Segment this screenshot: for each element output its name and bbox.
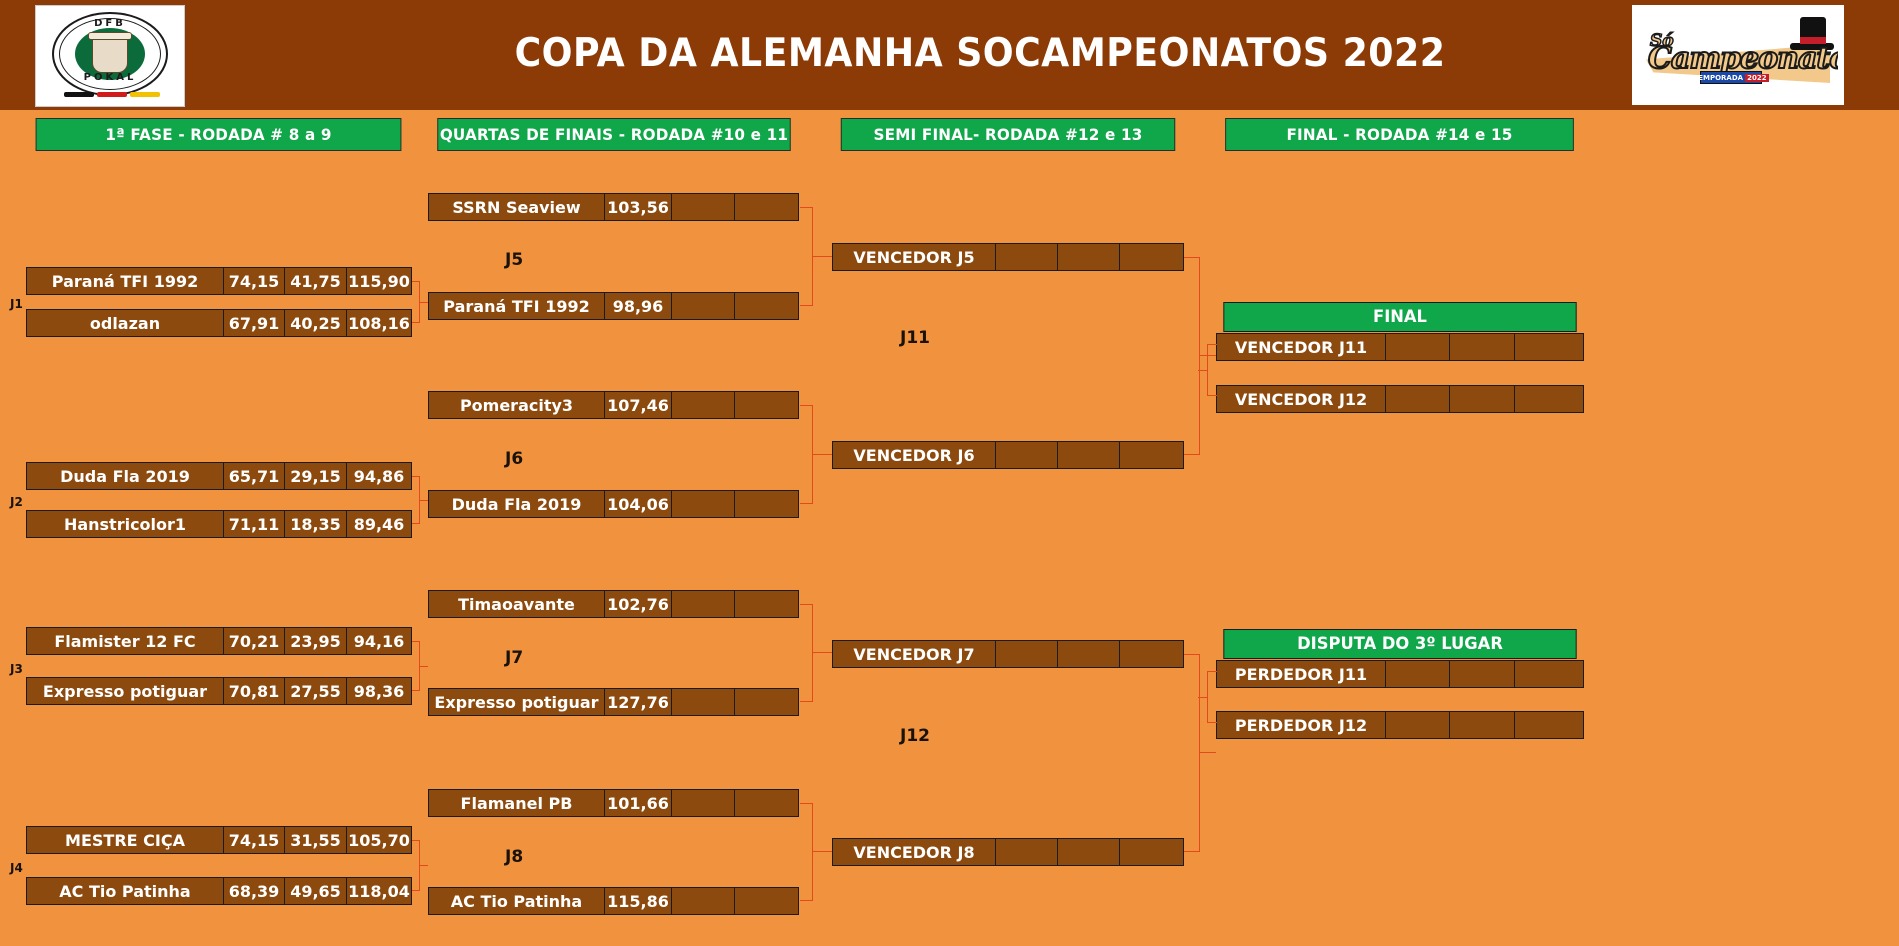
bracket-connector [813,851,833,852]
empty-cell [735,790,798,816]
bracket-connector [412,840,420,891]
flag-stripe-gold-icon [130,92,160,97]
empty-cell [1386,661,1450,687]
empty-cell [1058,839,1120,865]
score-total: 94,16 [347,628,411,654]
match-slot[interactable]: VENCEDOR J5 [832,243,1184,271]
score-total: 98,96 [605,293,672,319]
dfb-pokal-emblem: DFB POKAL [46,10,174,102]
match-id-j7: J7 [505,648,523,668]
match-slot[interactable]: VENCEDOR J8 [832,838,1184,866]
score-leg1: 65,71 [224,463,285,489]
score-total: 115,86 [605,888,672,914]
flag-stripe-black-icon [64,92,94,97]
team-name: VENCEDOR J8 [833,839,996,865]
team-name: Paraná TFI 1992 [27,268,224,294]
page-title: COPA DA ALEMANHA SOCAMPEONATOS 2022 [422,22,1538,84]
score-total: 118,04 [347,878,411,904]
empty-cell [1450,386,1515,412]
season-badge-label: TEMPORADA [1693,74,1743,82]
round-header-quarters[interactable]: QUARTAS DE FINAIS - RODADA #10 e 11 [437,118,790,151]
bracket-connector [813,256,833,257]
empty-cell [1386,386,1450,412]
empty-cell [735,689,798,715]
team-name: Expresso potiguar [429,689,605,715]
match-id-j12: J12 [900,726,930,746]
match-slot[interactable]: VENCEDOR J12 [1216,385,1584,413]
empty-cell [672,491,735,517]
score-leg2: 18,35 [285,511,347,537]
score-leg1: 70,21 [224,628,285,654]
team-name: VENCEDOR J6 [833,442,996,468]
match-slot[interactable]: Hanstricolor1 71,11 18,35 89,46 [26,510,412,538]
score-total: 98,36 [347,678,411,704]
score-leg1: 71,11 [224,511,285,537]
bracket-connector [1200,752,1216,753]
score-leg2: 23,95 [285,628,347,654]
team-name: odlazan [27,310,224,336]
bracket-connector [1184,654,1200,852]
empty-cell [1120,442,1183,468]
empty-cell [735,491,798,517]
bracket-connector [813,454,833,455]
trophy-lid-icon [88,32,132,40]
score-leg1: 74,15 [224,827,285,853]
page-header: DFB POKAL COPA DA ALEMANHA SOCAMPEONATOS… [0,0,1899,110]
match-slot[interactable]: SSRN Seaview 103,56 [428,193,799,221]
score-total: 104,06 [605,491,672,517]
match-slot[interactable]: PERDEDOR J12 [1216,711,1584,739]
empty-cell [1386,334,1450,360]
match-id-j1: J1 [10,297,23,311]
score-total: 102,76 [605,591,672,617]
empty-cell [735,293,798,319]
bracket-connector [1198,370,1208,371]
empty-cell [735,194,798,220]
bracket-connector [412,476,420,524]
team-name: AC Tio Patinha [429,888,605,914]
team-name: VENCEDOR J11 [1217,334,1386,360]
team-name: Flamister 12 FC [27,628,224,654]
bracket-connector [800,803,813,901]
bracket-connector [813,652,833,653]
score-total: 105,70 [347,827,411,853]
bracket-connector [800,207,813,306]
match-id-j11: J11 [900,328,930,348]
score-total: 101,66 [605,790,672,816]
match-slot[interactable]: Pomeracity3 107,46 [428,391,799,419]
match-slot[interactable]: Duda Fla 2019 65,71 29,15 94,86 [26,462,412,490]
socampeonatos-emblem: Só Campeonatos TEMPORADA 2022 [1638,11,1838,99]
team-name: VENCEDOR J7 [833,641,996,667]
match-id-j8: J8 [505,847,523,867]
round-header-semifinal[interactable]: SEMI FINAL- RODADA #12 e 13 [841,118,1175,151]
match-slot[interactable]: PERDEDOR J11 [1216,660,1584,688]
round-header-final[interactable]: FINAL - RODADA #14 e 15 [1225,118,1574,151]
empty-cell [1515,386,1583,412]
empty-cell [735,888,798,914]
season-badge-year: 2022 [1745,74,1768,82]
score-leg1: 67,91 [224,310,285,336]
third-place-banner: DISPUTA DO 3º LUGAR [1223,629,1576,659]
dfb-text: DFB [46,18,174,29]
bracket-connector [420,865,428,866]
match-slot[interactable]: Paraná TFI 1992 74,15 41,75 115,90 [26,267,412,295]
score-leg2: 40,25 [285,310,347,336]
match-slot[interactable]: Timaoavante 102,76 [428,590,799,618]
empty-cell [996,442,1058,468]
final-banner: FINAL [1223,302,1576,332]
bracket-connector [420,500,428,501]
socampeonatos-logo: Só Campeonatos TEMPORADA 2022 [1632,5,1844,105]
match-slot[interactable]: Expresso potiguar 127,76 [428,688,799,716]
team-name: AC Tio Patinha [27,878,224,904]
match-id-j4: J4 [10,861,23,875]
match-id-j5: J5 [505,250,523,270]
team-name: Expresso potiguar [27,678,224,704]
empty-cell [1450,661,1515,687]
bracket-connector [412,281,420,323]
empty-cell [735,591,798,617]
bracket-connector [800,405,813,504]
empty-cell [1515,661,1583,687]
empty-cell [1058,442,1120,468]
bracket-connector [1184,257,1200,455]
match-slot[interactable]: VENCEDOR J11 [1216,333,1584,361]
match-slot[interactable]: AC Tio Patinha 115,86 [428,887,799,915]
season-badge: TEMPORADA 2022 [1700,71,1762,84]
bracket-connector [1207,344,1217,396]
match-id-j3: J3 [10,662,23,676]
empty-cell [1120,641,1183,667]
trophy-cup-icon [92,35,128,73]
team-name: Hanstricolor1 [27,511,224,537]
empty-cell [672,888,735,914]
score-leg2: 27,55 [285,678,347,704]
empty-cell [672,293,735,319]
match-slot[interactable]: VENCEDOR J6 [832,441,1184,469]
score-leg1: 68,39 [224,878,285,904]
team-name: Duda Fla 2019 [27,463,224,489]
team-name: VENCEDOR J5 [833,244,996,270]
match-slot[interactable]: Flamister 12 FC 70,21 23,95 94,16 [26,627,412,655]
match-slot[interactable]: odlazan 67,91 40,25 108,16 [26,309,412,337]
empty-cell [672,591,735,617]
score-leg1: 70,81 [224,678,285,704]
empty-cell [996,641,1058,667]
empty-cell [672,194,735,220]
pokal-text: POKAL [46,72,174,83]
empty-cell [672,392,735,418]
bracket-page: DFB POKAL COPA DA ALEMANHA SOCAMPEONATOS… [0,0,1899,946]
bracket-connector [412,641,420,691]
score-leg2: 49,65 [285,878,347,904]
empty-cell [1386,712,1450,738]
empty-cell [1515,334,1583,360]
team-name: MESTRE CIÇA [27,827,224,853]
bracket-connector [800,604,813,702]
bracket-connector [420,302,428,303]
team-name: Pomeracity3 [429,392,605,418]
match-id-j6: J6 [505,449,523,469]
team-name: Duda Fla 2019 [429,491,605,517]
empty-cell [672,790,735,816]
empty-cell [735,392,798,418]
score-total: 107,46 [605,392,672,418]
empty-cell [1450,712,1515,738]
match-slot[interactable]: Paraná TFI 1992 98,96 [428,292,799,320]
match-slot[interactable]: Duda Fla 2019 104,06 [428,490,799,518]
match-slot[interactable]: MESTRE CIÇA 74,15 31,55 105,70 [26,826,412,854]
team-name: VENCEDOR J12 [1217,386,1386,412]
score-total: 108,16 [347,310,411,336]
empty-cell [1450,334,1515,360]
score-total: 103,56 [605,194,672,220]
empty-cell [672,689,735,715]
team-name: PERDEDOR J12 [1217,712,1386,738]
match-slot[interactable]: AC Tio Patinha 68,39 49,65 118,04 [26,877,412,905]
bracket-connector [420,666,428,667]
empty-cell [1120,244,1183,270]
score-leg1: 74,15 [224,268,285,294]
empty-cell [996,244,1058,270]
round-header-phase1[interactable]: 1ª FASE - RODADA # 8 a 9 [36,118,402,151]
empty-cell [996,839,1058,865]
bracket-connector [1198,697,1208,698]
dfb-pokal-logo: DFB POKAL [35,5,185,107]
score-leg2: 41,75 [285,268,347,294]
empty-cell [1515,712,1583,738]
match-slot[interactable]: Flamanel PB 101,66 [428,789,799,817]
empty-cell [1058,641,1120,667]
team-name: Flamanel PB [429,790,605,816]
match-slot[interactable]: VENCEDOR J7 [832,640,1184,668]
score-total: 94,86 [347,463,411,489]
flag-stripe-red-icon [97,92,127,97]
team-name: PERDEDOR J11 [1217,661,1386,687]
match-slot[interactable]: Expresso potiguar 70,81 27,55 98,36 [26,677,412,705]
team-name: Paraná TFI 1992 [429,293,605,319]
score-total: 127,76 [605,689,672,715]
score-leg2: 31,55 [285,827,347,853]
team-name: SSRN Seaview [429,194,605,220]
score-total: 89,46 [347,511,411,537]
empty-cell [1058,244,1120,270]
score-leg2: 29,15 [285,463,347,489]
match-id-j2: J2 [10,495,23,509]
bracket-connector [1207,671,1217,723]
empty-cell [1120,839,1183,865]
score-total: 115,90 [347,268,411,294]
team-name: Timaoavante [429,591,605,617]
